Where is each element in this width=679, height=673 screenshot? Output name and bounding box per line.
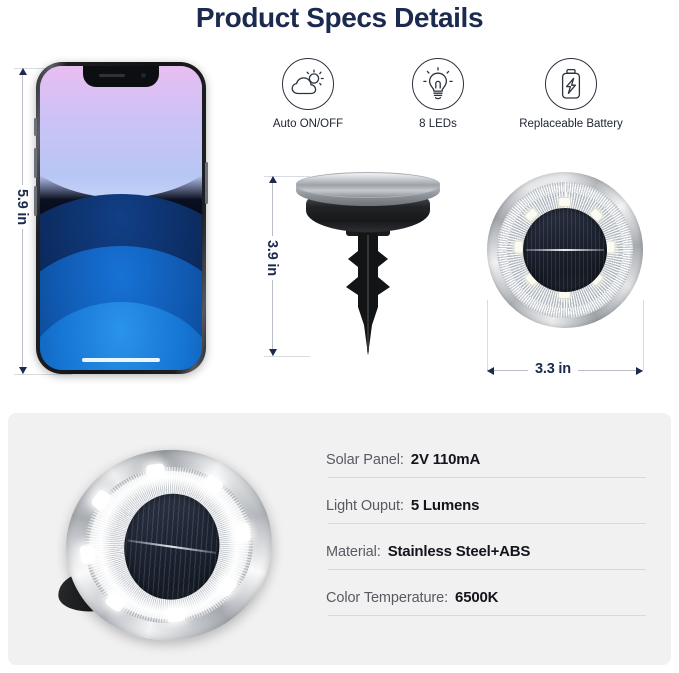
feature-label: 8 LEDs bbox=[388, 118, 488, 130]
solar-panel bbox=[523, 208, 607, 292]
led-lamp bbox=[606, 241, 616, 254]
spec-row-color-temperature: Color Temperature:6500K bbox=[326, 570, 656, 616]
feature-label: Replaceable Battery bbox=[491, 118, 651, 130]
phone-extension-line-bottom bbox=[14, 374, 72, 375]
solar-panel-busbar bbox=[526, 249, 603, 251]
led-lamp bbox=[145, 463, 165, 479]
spec-label: Light Ouput: bbox=[326, 498, 404, 514]
topview-dimension-arrow-left bbox=[487, 367, 494, 375]
product-specs-infographic: Product Specs Details Auto ON/OFF bbox=[0, 0, 679, 673]
sideview-dimension-arrow-bottom bbox=[269, 349, 277, 356]
spec-value: Stainless Steel+ABS bbox=[388, 543, 531, 560]
specs-list: Solar Panel:2V 110mA Light Ouput:5 Lumen… bbox=[326, 432, 656, 616]
power-button bbox=[205, 162, 208, 204]
spec-value: 2V 110mA bbox=[411, 451, 480, 468]
home-indicator bbox=[82, 358, 160, 362]
solar-light-side-view bbox=[288, 172, 448, 357]
phone-dimension-arrow-top bbox=[19, 68, 27, 75]
spec-label: Solar Panel: bbox=[326, 452, 404, 468]
spec-label: Material: bbox=[326, 544, 381, 560]
battery-bolt-icon bbox=[545, 58, 597, 110]
page-title: Product Specs Details bbox=[0, 2, 679, 34]
phone-screen bbox=[40, 66, 202, 370]
feature-replaceable-battery: Replaceable Battery bbox=[491, 58, 651, 130]
spec-value: 6500K bbox=[455, 589, 498, 606]
sun-cloud-icon bbox=[282, 58, 334, 110]
solar-light-top-view bbox=[487, 172, 643, 328]
product-photo-disc bbox=[54, 437, 284, 654]
phone-body bbox=[36, 62, 206, 374]
ground-stake-icon bbox=[332, 233, 404, 355]
led-lamp bbox=[80, 544, 96, 564]
side-view-steel-top bbox=[296, 172, 440, 198]
led-lamp bbox=[235, 522, 251, 542]
phone-dimension-arrow-bottom bbox=[19, 367, 27, 374]
earpiece-speaker bbox=[99, 74, 125, 77]
feature-label: Auto ON/OFF bbox=[248, 118, 368, 130]
feature-auto-on-off: Auto ON/OFF bbox=[248, 58, 368, 130]
light-height-label: 3.9 in bbox=[264, 236, 280, 280]
lightbulb-icon bbox=[412, 58, 464, 110]
product-photo bbox=[40, 448, 272, 643]
spec-value: 5 Lumens bbox=[411, 497, 479, 514]
topview-extension-line-right bbox=[643, 300, 644, 370]
spec-row-material: Material:Stainless Steel+ABS bbox=[326, 524, 656, 570]
feature-icons-row: Auto ON/OFF 8 LEDs bbox=[248, 58, 668, 140]
light-diameter-label: 3.3 in bbox=[528, 361, 578, 377]
spec-row-light-output: Light Ouput:5 Lumens bbox=[326, 478, 656, 524]
feature-8-leds: 8 LEDs bbox=[388, 58, 488, 130]
led-lamp bbox=[558, 197, 571, 207]
sideview-dimension-arrow-top bbox=[269, 176, 277, 183]
silent-switch bbox=[34, 118, 37, 136]
phone-size-reference bbox=[36, 62, 206, 374]
phone-notch bbox=[83, 66, 159, 87]
volume-down-button bbox=[34, 186, 37, 216]
led-lamp bbox=[514, 241, 524, 254]
led-lamp bbox=[165, 606, 185, 622]
front-camera-icon bbox=[141, 73, 146, 78]
phone-height-label: 5.9 in bbox=[14, 185, 30, 229]
volume-up-button bbox=[34, 148, 37, 178]
spec-separator bbox=[328, 615, 646, 616]
topview-dimension-arrow-right bbox=[636, 367, 643, 375]
spec-label: Color Temperature: bbox=[326, 590, 448, 606]
spec-row-solar-panel: Solar Panel:2V 110mA bbox=[326, 432, 656, 478]
